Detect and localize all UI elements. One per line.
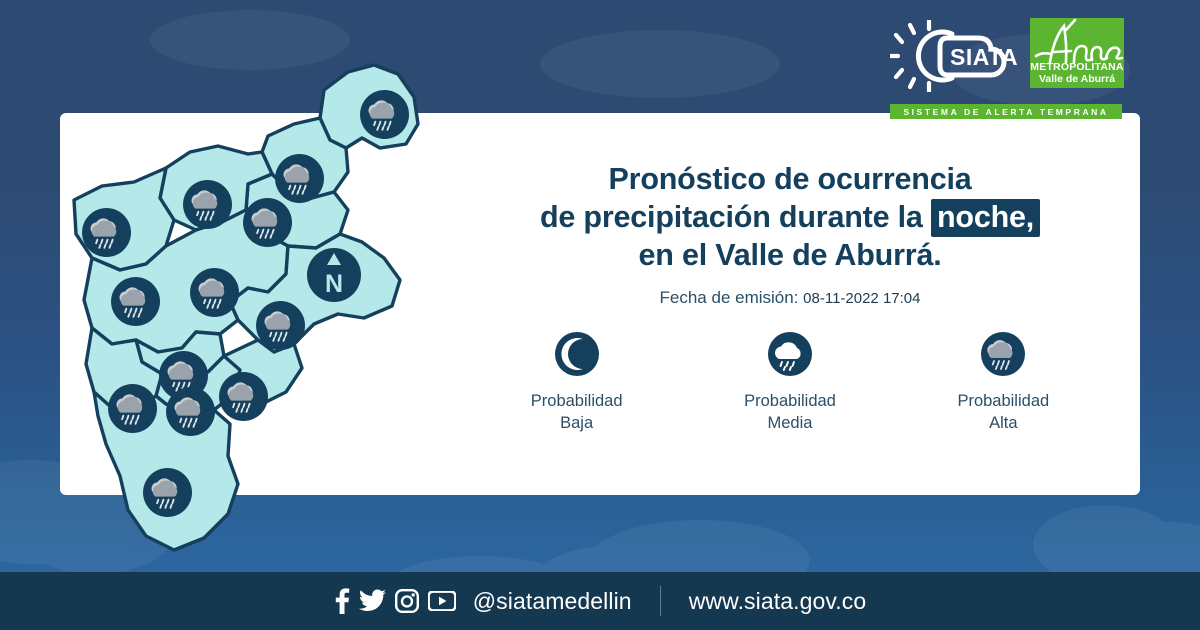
area-metropolitana-logo: METROPOLITANA Valle de Aburrá [1030,18,1124,88]
map-marker-san-pedro [82,208,131,257]
social-handle[interactable]: @siatamedellin [473,588,632,615]
area-script-icon [1030,18,1124,68]
legend-alta-line2: Alta [957,412,1049,434]
map-marker-guarne [256,301,305,350]
legend-item-media: Probabilidad Media [710,328,870,434]
page-title: Pronóstico de ocurrencia de precipitació… [470,160,1110,274]
forecast-text-panel: Pronóstico de ocurrencia de precipitació… [470,160,1110,308]
map-marker-copacabana [243,198,292,247]
facebook-icon[interactable] [334,588,350,614]
legend-baja-line2: Baja [531,412,623,434]
probability-legend: Probabilidad Baja Probabilidad Media [470,328,1110,434]
map-marker-caldas [143,468,192,517]
map-marker-bello [183,180,232,229]
legend-media-line2: Media [744,412,836,434]
siata-tagline-bar: SISTEMA DE ALERTA TEMPRANA [890,104,1122,119]
cloud-heavy-rain-icon [977,328,1029,380]
legend-baja-line1: Probabilidad [531,390,623,412]
title-line-2-text: de precipitación durante la [540,200,931,234]
legend-item-alta: Probabilidad Alta [923,328,1083,434]
legend-label-alta: Probabilidad Alta [957,390,1049,434]
emission-date-label: Fecha de emisión: [660,288,799,307]
compass-rose: N [307,248,361,302]
legend-label-baja: Probabilidad Baja [531,390,623,434]
siata-wordmark: SIATA [950,44,1018,70]
cloud-moon-rain-icon [764,328,816,380]
youtube-icon[interactable] [428,591,456,611]
valle-de-aburra-map: N [62,52,482,572]
moon-icon [551,328,603,380]
logo-group: SIATA METROPOLITANA Valle de Aburrá SIST… [890,16,1122,110]
emission-date: Fecha de emisión: 08-11-2022 17:04 [470,288,1110,308]
website-url[interactable]: www.siata.gov.co [689,588,867,615]
map-marker-la-estrella [108,384,157,433]
map-marker-sabaneta [166,387,215,436]
legend-item-baja: Probabilidad Baja [497,328,657,434]
legend-alta-line1: Probabilidad [957,390,1049,412]
siata-tagline-text: SISTEMA DE ALERTA TEMPRANA [903,107,1108,117]
legend-media-line1: Probabilidad [744,390,836,412]
social-icons [334,588,456,614]
title-line-3: en el Valle de Aburrá. [470,236,1110,274]
map-marker-girardota [275,154,324,203]
area-logo-line2: Valle de Aburrá [1039,73,1115,85]
title-line-2: de precipitación durante la noche, [470,198,1110,236]
map-marker-envigado [219,372,268,421]
siata-logo: SIATA [890,20,1020,92]
map-marker-medellin-norte [111,277,160,326]
instagram-icon[interactable] [395,589,419,613]
footer-bar: @siatamedellin www.siata.gov.co [0,572,1200,630]
legend-label-media: Probabilidad Media [744,390,836,434]
map-marker-medellin [190,268,239,317]
emission-date-value: 08-11-2022 17:04 [803,290,920,307]
title-line-1: Pronóstico de ocurrencia [470,160,1110,198]
footer-divider [660,586,661,616]
compass-north-label: N [325,270,343,298]
twitter-icon[interactable] [359,589,386,613]
title-highlight-noche: noche, [931,199,1040,237]
map-marker-barbosa [360,90,409,139]
infographic-canvas: SIATA METROPOLITANA Valle de Aburrá SIST… [0,0,1200,630]
